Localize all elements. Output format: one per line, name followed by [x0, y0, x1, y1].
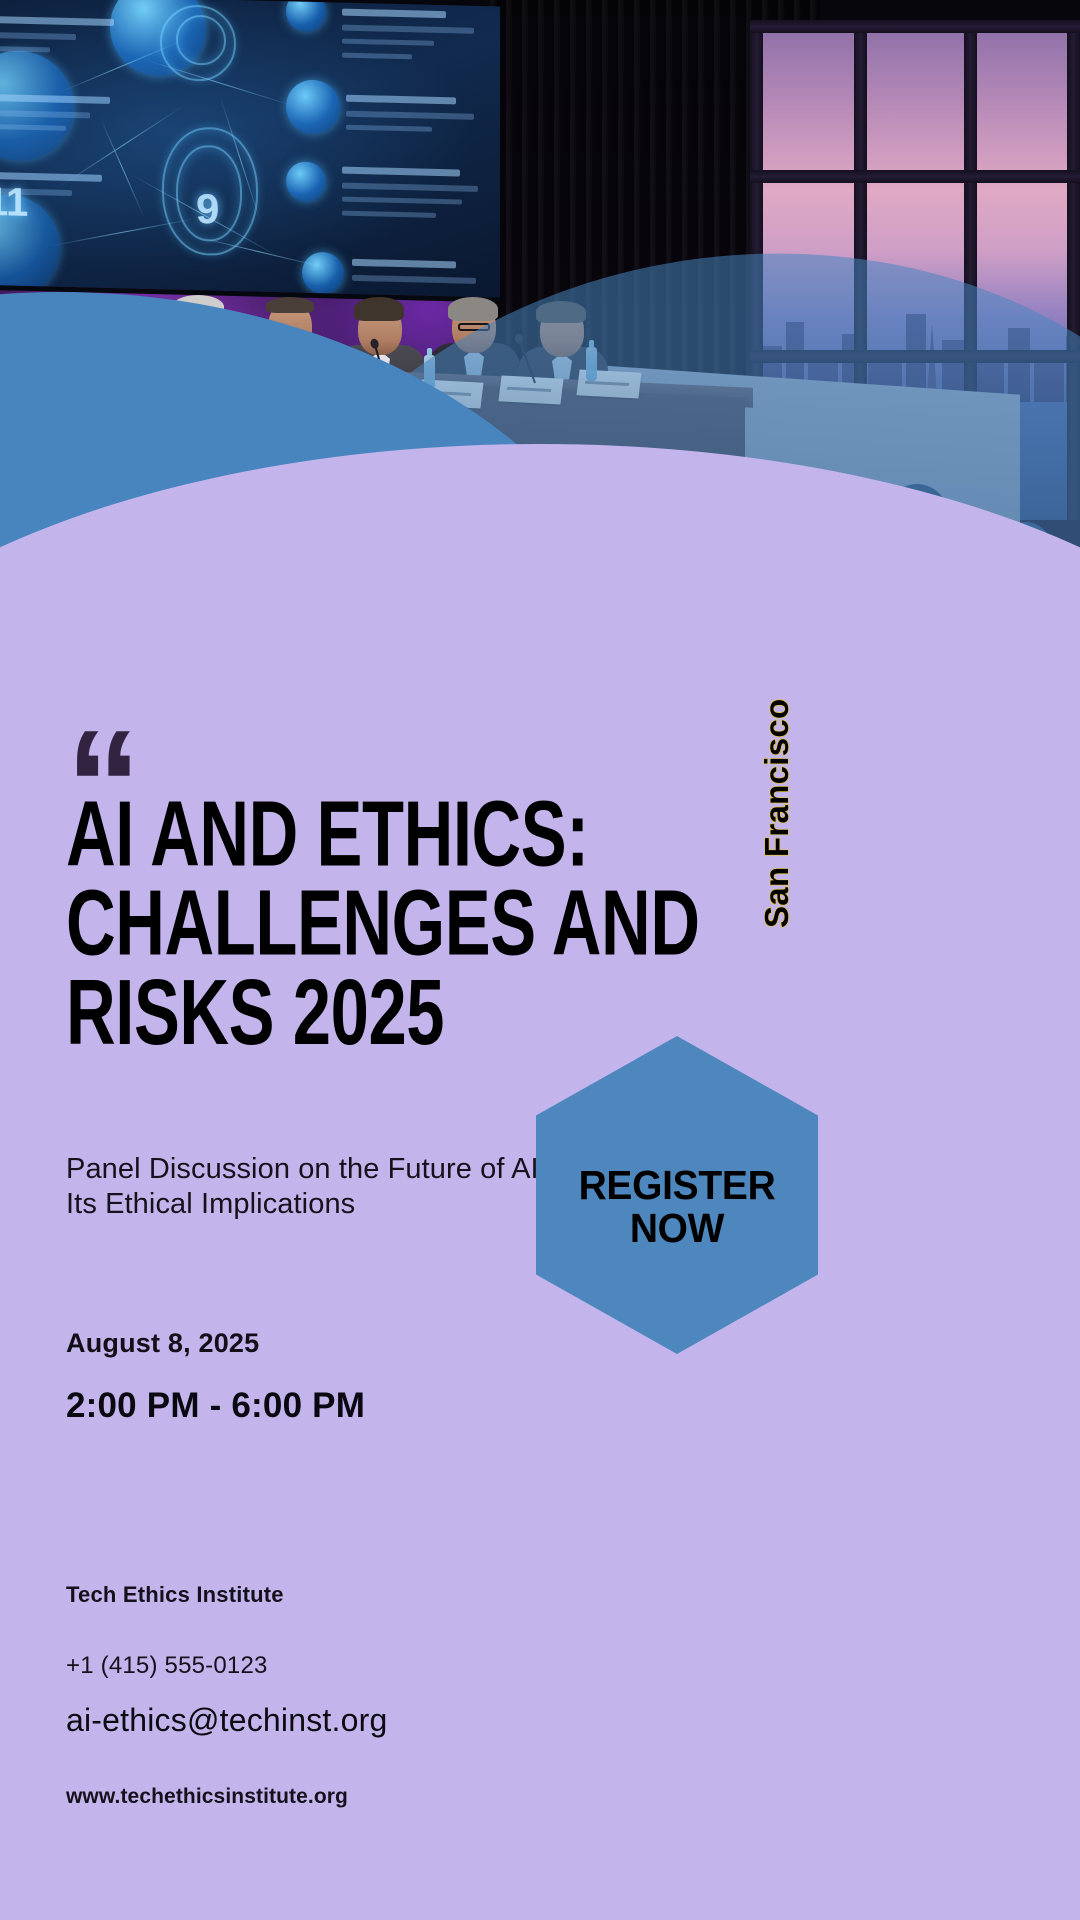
title-line-1: AI AND ETHICS: — [66, 790, 599, 879]
cta-line-1: REGISTER — [579, 1164, 776, 1207]
cta-line-2: NOW — [630, 1207, 724, 1250]
contact-email[interactable]: ai-ethics@techinst.org — [66, 1702, 387, 1739]
title-line-3: RISKS 2025 — [66, 968, 599, 1057]
title-line-2: CHALLENGES AND — [66, 879, 599, 968]
register-now-label: REGISTER NOW — [543, 1048, 811, 1366]
poster-canvas: 11 9 — [0, 0, 1080, 1920]
contact-phone[interactable]: +1 (415) 555-0123 — [66, 1652, 268, 1680]
organization-name: Tech Ethics Institute — [66, 1582, 284, 1608]
contact-website[interactable]: www.techethicsinstitute.org — [66, 1785, 348, 1809]
page-title: AI AND ETHICS: CHALLENGES AND RISKS 2025 — [66, 790, 599, 1057]
register-now-button[interactable]: REGISTER NOW — [536, 1036, 818, 1354]
event-city-label: San Francisco — [758, 698, 810, 928]
event-time: 2:00 PM - 6:00 PM — [66, 1386, 365, 1426]
event-date: August 8, 2025 — [66, 1328, 259, 1359]
presentation-screen: 11 9 — [0, 0, 500, 302]
